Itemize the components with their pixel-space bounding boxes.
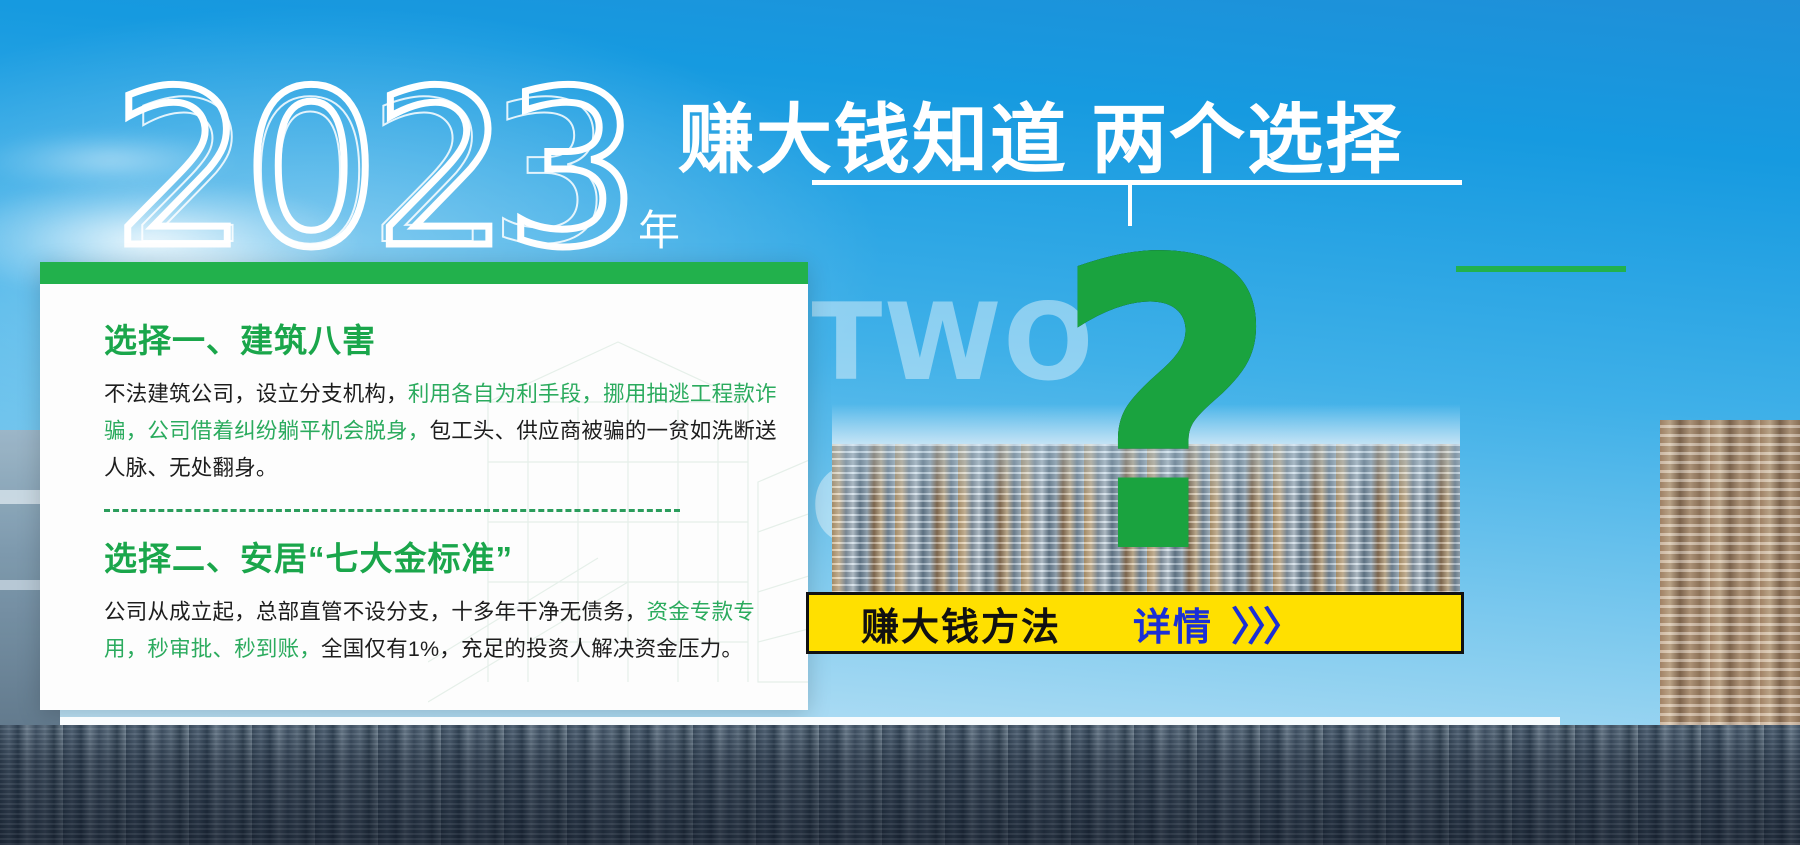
cta-detail-label: 详情 bbox=[1133, 596, 1213, 651]
banner-stage: 2023 2023 年 赚大钱知道 两个选择 TWO CHOICES ? bbox=[0, 0, 1800, 845]
chevron-right-icon: 〉〉〉 bbox=[1231, 594, 1299, 652]
section-body-2: 公司从成立起，总部直管不设分支，十多年干净无债务，资金专款专用，秒审批、秒到账，… bbox=[104, 594, 778, 668]
headline-divider-tick bbox=[1128, 180, 1132, 226]
page-title: 赚大钱知道 两个选择 bbox=[678, 78, 1403, 188]
right-buildings-photo bbox=[1660, 420, 1800, 725]
section-2-part-1: 公司从成立起，总部直管不设分支，十多年干净无债务， bbox=[104, 600, 647, 624]
section-title-1: 选择一、建筑八害 bbox=[104, 314, 778, 362]
card-top-accent-bar bbox=[40, 262, 808, 284]
year-suffix-label: 年 bbox=[638, 197, 680, 258]
section-title-2: 选择二、安居“七大金标准” bbox=[104, 532, 778, 580]
card-body: 选择一、建筑八害 不法建筑公司，设立分支机构，利用各自为利手段，挪用抽逃工程款诈… bbox=[104, 314, 778, 668]
cta-button[interactable]: 赚大钱方法 详情 〉〉〉 bbox=[806, 592, 1464, 654]
right-accent-bar bbox=[1456, 266, 1626, 272]
headline-underline bbox=[812, 180, 1462, 185]
section-2-part-3: 全国仅有1%，充足的投资人解决资金压力。 bbox=[321, 637, 743, 661]
year-numerals-inner-outline: 2023 bbox=[128, 76, 608, 271]
content-card: 选择一、建筑八害 不法建筑公司，设立分支机构，利用各自为利手段，挪用抽逃工程款诈… bbox=[40, 262, 808, 710]
section-divider bbox=[104, 509, 680, 512]
cta-main-label: 赚大钱方法 bbox=[861, 596, 1061, 651]
right-visual-panel: TWO CHOICES ? bbox=[812, 226, 1462, 596]
section-1-part-1: 不法建筑公司，设立分支机构， bbox=[104, 382, 408, 406]
question-mark-icon: ? bbox=[1050, 226, 1282, 596]
section-body-1: 不法建筑公司，设立分支机构，利用各自为利手段，挪用抽逃工程款诈骗，公司借着纠纷躺… bbox=[104, 376, 778, 487]
bottom-photo-strip bbox=[0, 725, 1800, 845]
